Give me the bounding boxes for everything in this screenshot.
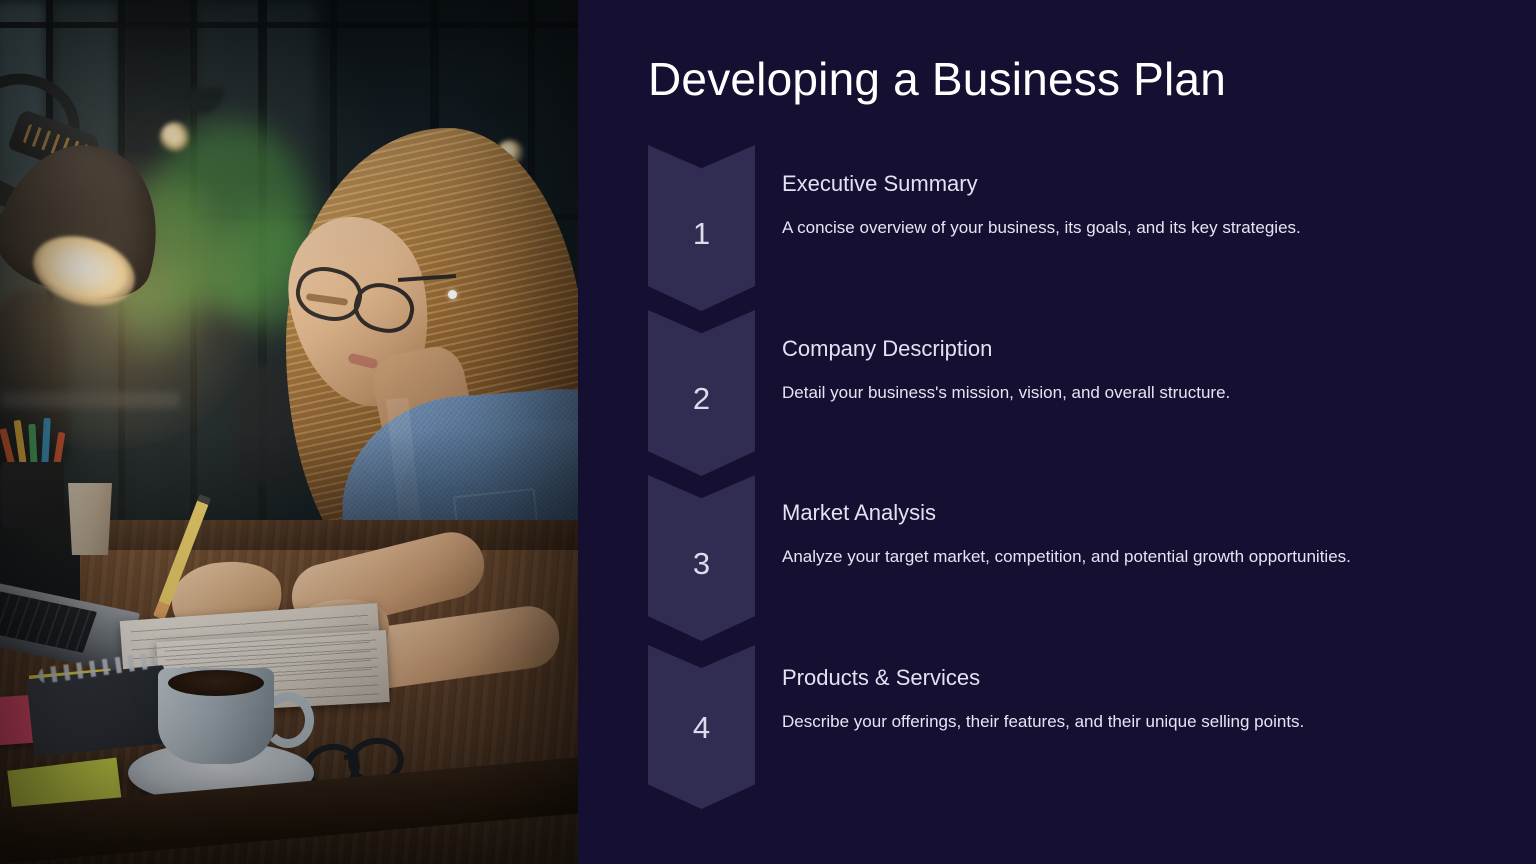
steps-list: 1 Executive Summary A concise overview o… [578,0,1536,864]
step-description-3: Analyze your target market, competition,… [782,547,1351,567]
step-heading-3: Market Analysis [782,500,936,526]
step-number-1: 1 [648,216,755,252]
step-description-4: Describe your offerings, their features,… [782,712,1304,732]
step-heading-2: Company Description [782,336,992,362]
step-description-2: Detail your business's mission, vision, … [782,383,1230,403]
background-table [0,392,180,408]
coffee-liquid [168,670,264,696]
light-bokeh-2 [167,130,189,152]
hero-photo [0,0,578,864]
step-heading-1: Executive Summary [782,171,978,197]
person-earring [448,290,457,299]
step-number-2: 2 [648,381,755,417]
step-description-1: A concise overview of your business, its… [782,218,1301,238]
slide: Developing a Business Plan 1 Executive S… [0,0,1536,864]
pencil-holder [2,462,64,528]
step-heading-4: Products & Services [782,665,980,691]
step-number-4: 4 [648,710,755,746]
window-transom [0,22,578,28]
content-panel: Developing a Business Plan 1 Executive S… [578,0,1536,864]
step-number-3: 3 [648,546,755,582]
paper-coffee-cup [65,483,115,555]
